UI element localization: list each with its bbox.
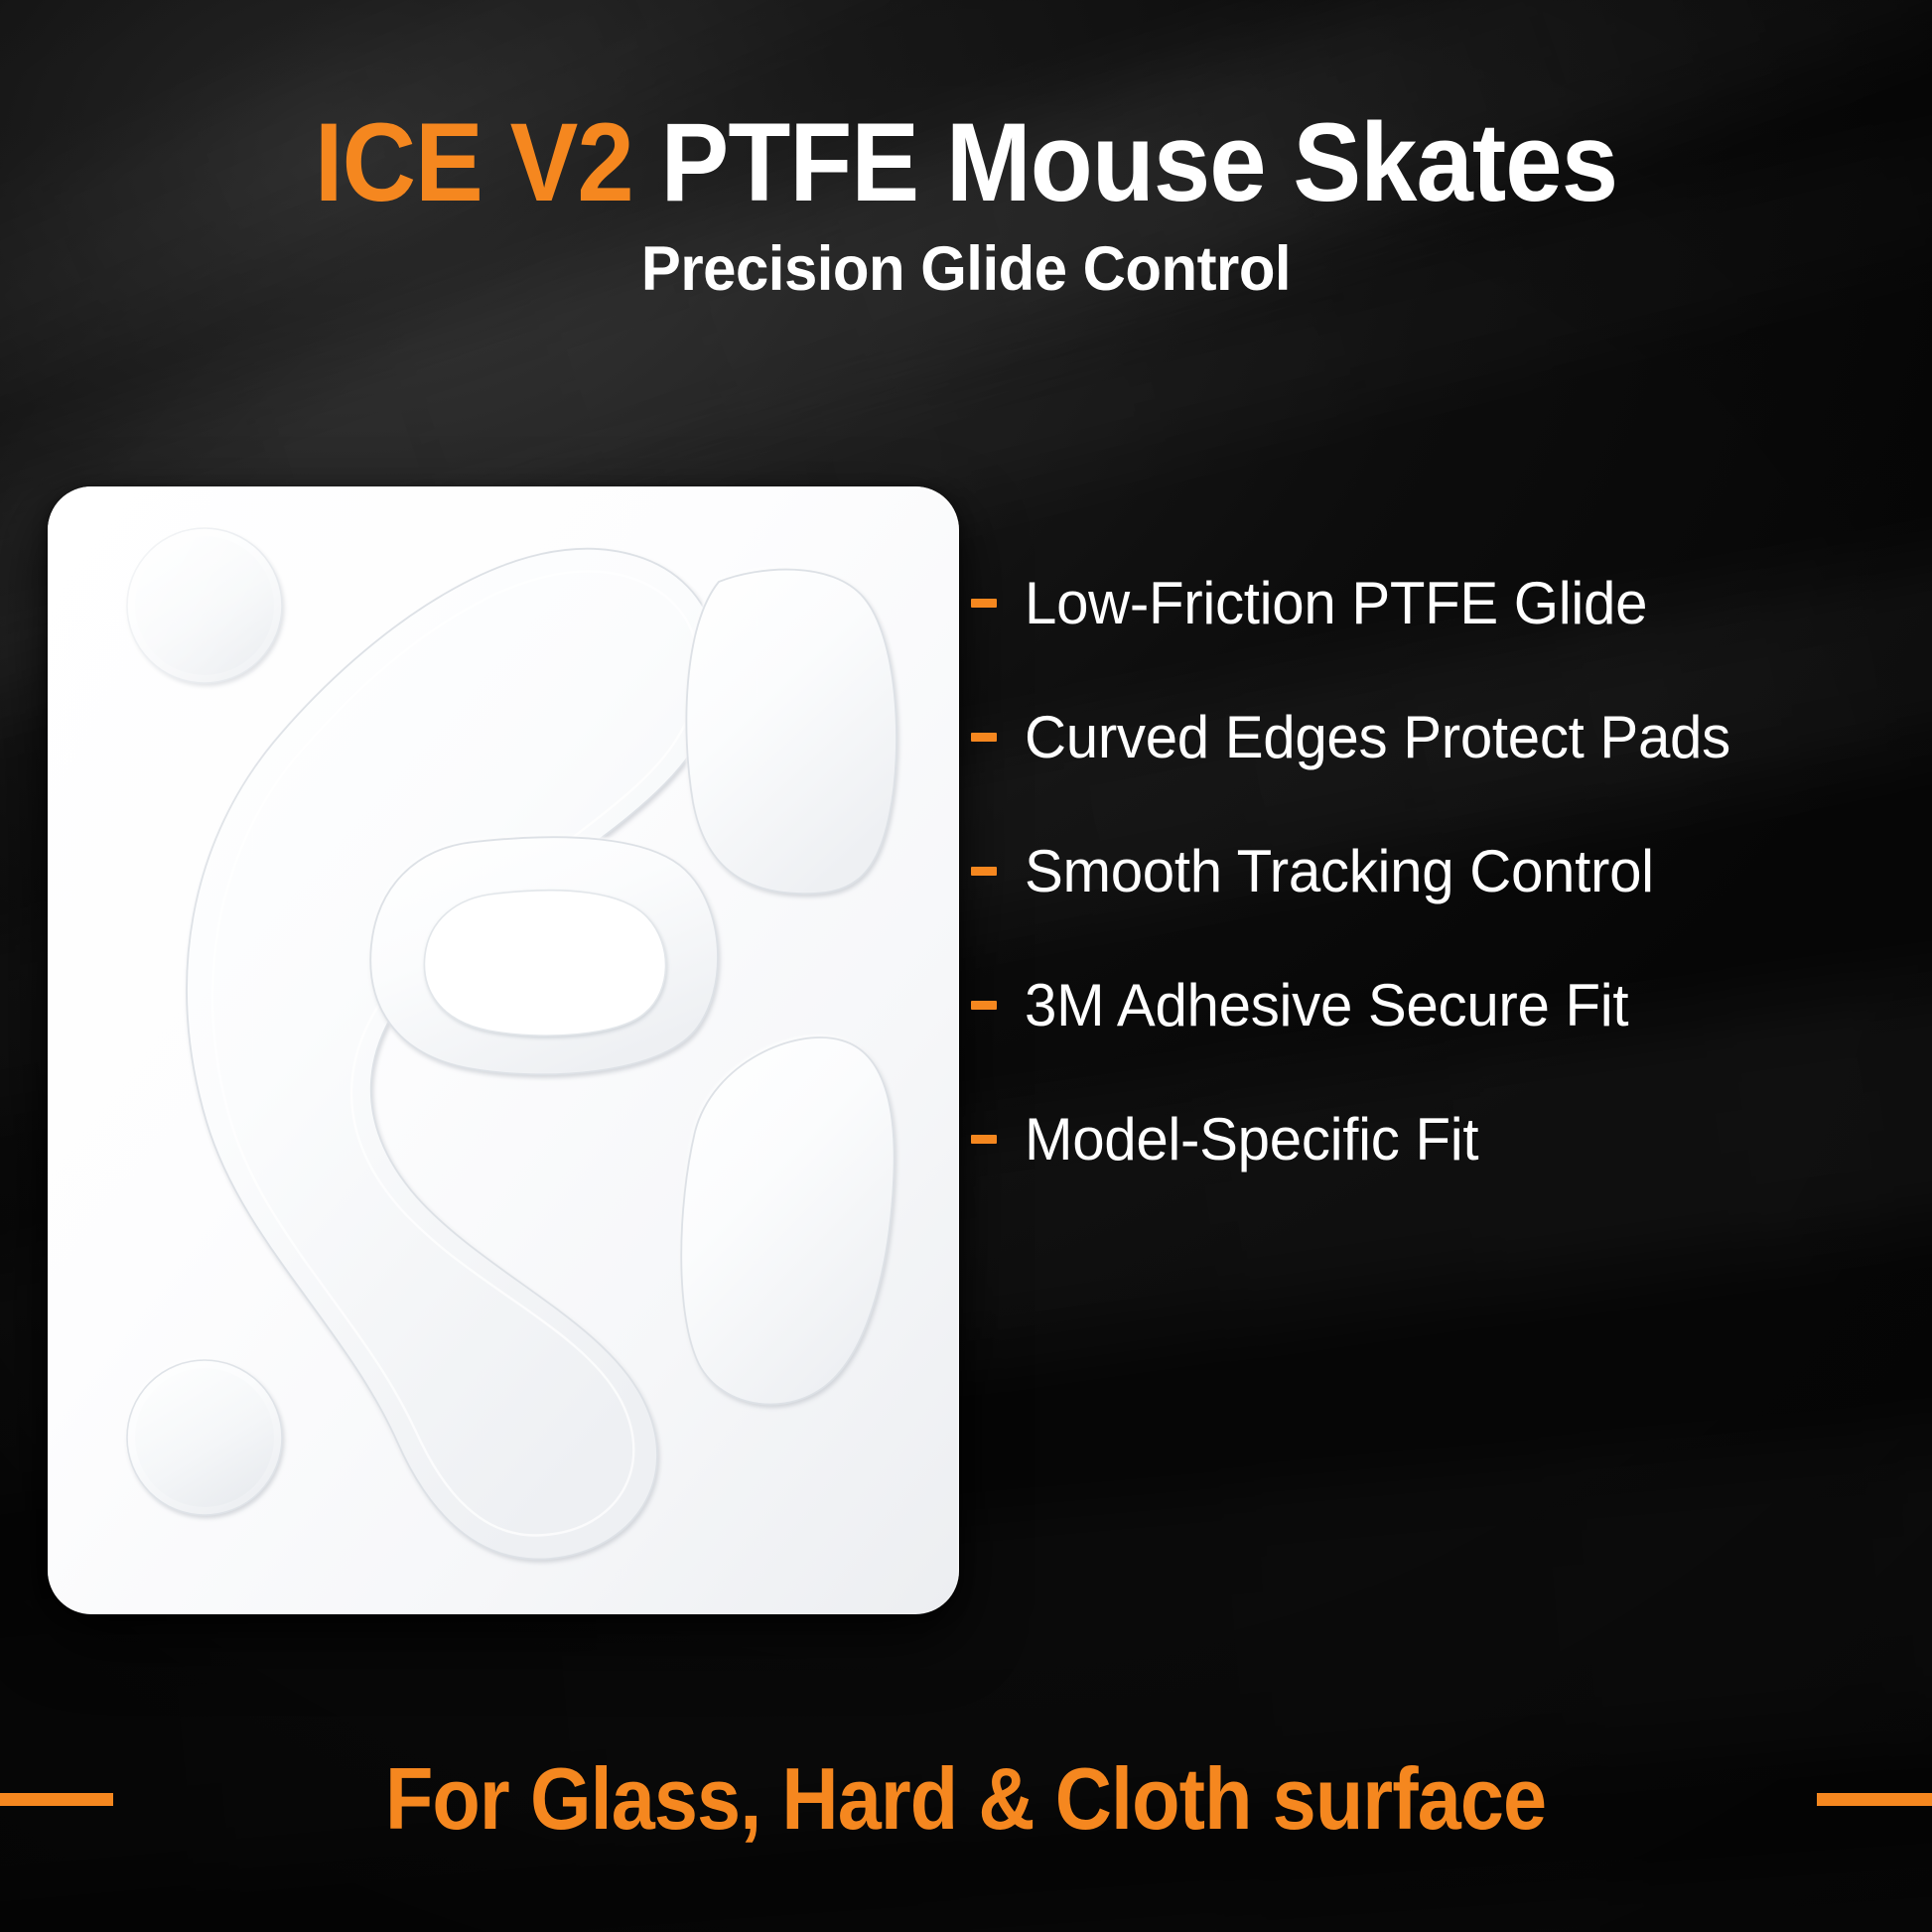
list-item: Model-Specific Fit — [971, 1072, 1894, 1206]
center-ring-pad — [370, 837, 718, 1074]
small-circle-pad-top-left — [127, 528, 282, 683]
mouse-skate-pad-layout — [48, 486, 959, 1614]
list-item: Curved Edges Protect Pads — [971, 670, 1894, 804]
list-item: 3M Adhesive Secure Fit — [971, 938, 1894, 1072]
product-sheet — [48, 486, 959, 1614]
side-pad-bottom-right — [681, 1037, 894, 1405]
list-item: Smooth Tracking Control — [971, 804, 1894, 938]
bullet-dash-icon — [971, 733, 997, 742]
small-circle-pad-bottom-left — [127, 1360, 282, 1515]
feature-label: 3M Adhesive Secure Fit — [1025, 971, 1628, 1039]
page-subtitle: Precision Glide Control — [49, 238, 1884, 301]
feature-label: Curved Edges Protect Pads — [1025, 703, 1730, 771]
title-plain-text: PTFE Mouse Skates — [661, 100, 1618, 224]
page-title: ICE V2 PTFE Mouse Skates — [77, 107, 1855, 218]
footer-banner: For Glass, Hard & Cloth surface — [0, 1729, 1932, 1868]
feature-list: Low-Friction PTFE Glide Curved Edges Pro… — [971, 536, 1894, 1206]
side-pad-top-right — [686, 570, 897, 895]
feature-label: Smooth Tracking Control — [1025, 837, 1654, 905]
bullet-dash-icon — [971, 599, 997, 608]
feature-label: Low-Friction PTFE Glide — [1025, 569, 1647, 637]
title-accent-text: ICE V2 — [315, 100, 633, 224]
footer-text: For Glass, Hard & Cloth surface — [385, 1755, 1546, 1843]
list-item: Low-Friction PTFE Glide — [971, 536, 1894, 670]
bullet-dash-icon — [971, 1135, 997, 1144]
infographic-canvas: ICE V2 PTFE Mouse Skates Precision Glide… — [0, 0, 1932, 1932]
bullet-dash-icon — [971, 1001, 997, 1010]
bullet-dash-icon — [971, 867, 997, 876]
feature-label: Model-Specific Fit — [1025, 1105, 1478, 1173]
